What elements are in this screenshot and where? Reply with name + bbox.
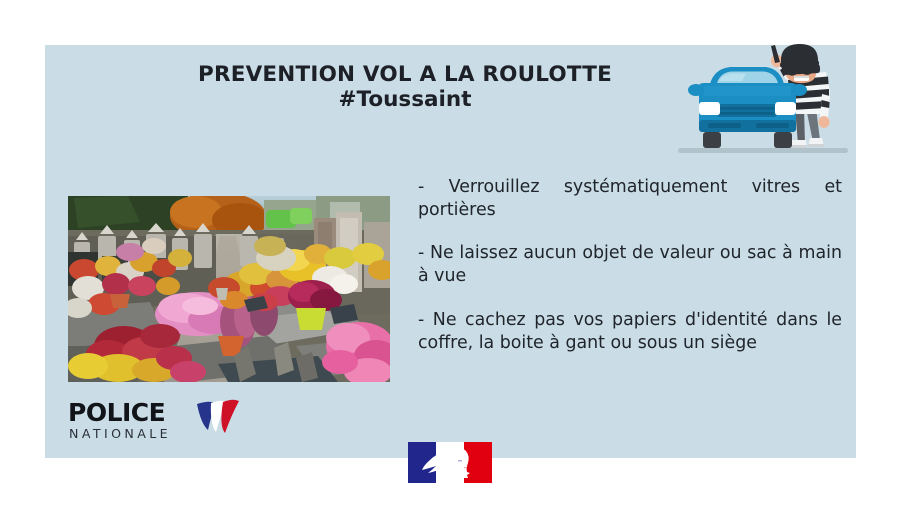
page-title: PREVENTION VOL A LA ROULOTTE #Toussaint: [125, 63, 685, 113]
tricolor-flame-icon: [195, 398, 241, 434]
bullet-text: - Ne cachez pas vos papiers d'identité d…: [418, 310, 842, 353]
bullet-text: - Ne laissez aucun objet de valeur ou sa…: [418, 243, 842, 286]
car-thief-illustration: [670, 40, 860, 165]
republique-francaise-flag: [408, 442, 492, 483]
cemetery-chrysanthemums-photo: [68, 196, 390, 382]
logo-police-text: POLICE: [68, 400, 165, 425]
list-item: - Ne laissez aucun objet de valeur ou sa…: [418, 242, 842, 288]
title-line-1: PREVENTION VOL A LA ROULOTTE: [125, 63, 685, 87]
police-nationale-logo: POLICE NATIONALE: [68, 400, 243, 448]
advice-list: - Verrouillez systématiquement vitres et…: [418, 176, 842, 355]
poster-card: PREVENTION VOL A LA ROULOTTE #Toussaint: [45, 45, 856, 458]
logo-nationale-text: NATIONALE: [69, 428, 171, 441]
title-line-2: #Toussaint: [125, 87, 685, 113]
bullet-text: - Verrouillez systématiquement vitres et…: [418, 177, 842, 220]
list-item: - Ne cachez pas vos papiers d'identité d…: [418, 309, 842, 355]
list-item: - Verrouillez systématiquement vitres et…: [418, 176, 842, 222]
